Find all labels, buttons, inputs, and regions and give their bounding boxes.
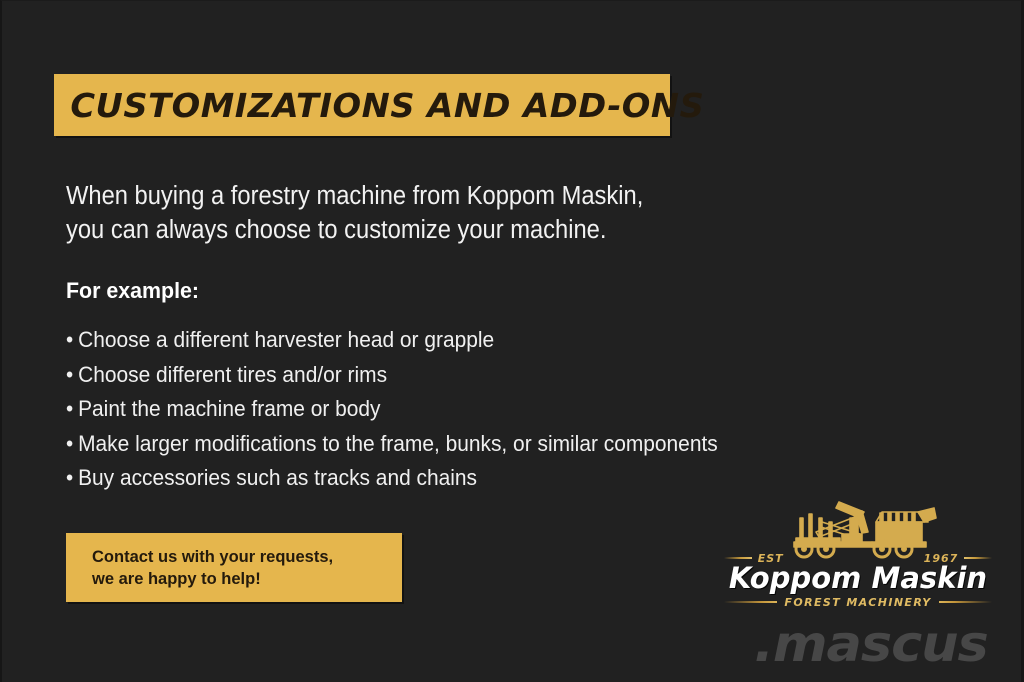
mascus-watermark: .mascus	[754, 615, 988, 673]
contact-cta-box[interactable]: Contact us with your requests, we are ha…	[66, 533, 402, 602]
list-item-label: Make larger modifications to the frame, …	[78, 431, 718, 456]
list-item-label: Choose different tires and/or rims	[78, 362, 387, 387]
logo-tagline-rule-right	[939, 601, 992, 603]
contact-cta-line-1: Contact us with your requests,	[66, 546, 402, 568]
customization-options-list: •Choose a different harvester head or gr…	[66, 323, 826, 496]
bullet-icon: •	[66, 392, 78, 427]
title-banner: CUSTOMIZATIONS AND ADD-ONS	[54, 74, 670, 136]
bullet-icon: •	[66, 461, 78, 496]
contact-cta-line-2: we are happy to help!	[66, 568, 402, 590]
logo-company-name: Koppom Maskin	[724, 561, 992, 595]
list-item: •Choose a different harvester head or gr…	[66, 323, 773, 358]
list-item-label: Paint the machine frame or body	[78, 396, 380, 421]
list-item: •Paint the machine frame or body	[66, 392, 773, 427]
intro-line-2: you can always choose to customize your …	[66, 213, 717, 247]
for-example-label: For example:	[66, 277, 199, 305]
logo-tagline-row: FOREST MACHINERY	[724, 595, 992, 609]
page-title: CUSTOMIZATIONS AND ADD-ONS	[54, 86, 704, 125]
list-item-label: Buy accessories such as tracks and chain…	[78, 465, 477, 490]
list-item-label: Choose a different harvester head or gra…	[78, 327, 494, 352]
logo-rule-right	[964, 557, 992, 559]
logo-tagline-rule-left	[724, 601, 777, 603]
list-item: •Choose different tires and/or rims	[66, 358, 773, 393]
intro-line-1: When buying a forestry machine from Kopp…	[66, 179, 717, 213]
list-item: •Buy accessories such as tracks and chai…	[66, 461, 773, 496]
list-item: •Make larger modifications to the frame,…	[66, 427, 773, 462]
koppom-maskin-logo: EST 1967 Koppom Maskin FOREST MACHINERY	[724, 498, 992, 612]
logo-tagline-label: FOREST MACHINERY	[784, 596, 931, 609]
advertisement-slide: CUSTOMIZATIONS AND ADD-ONS When buying a…	[0, 0, 1024, 682]
intro-paragraph: When buying a forestry machine from Kopp…	[66, 179, 766, 247]
bullet-icon: •	[66, 427, 78, 462]
bullet-icon: •	[66, 323, 78, 358]
bullet-icon: •	[66, 358, 78, 393]
logo-rule-left	[724, 557, 752, 559]
